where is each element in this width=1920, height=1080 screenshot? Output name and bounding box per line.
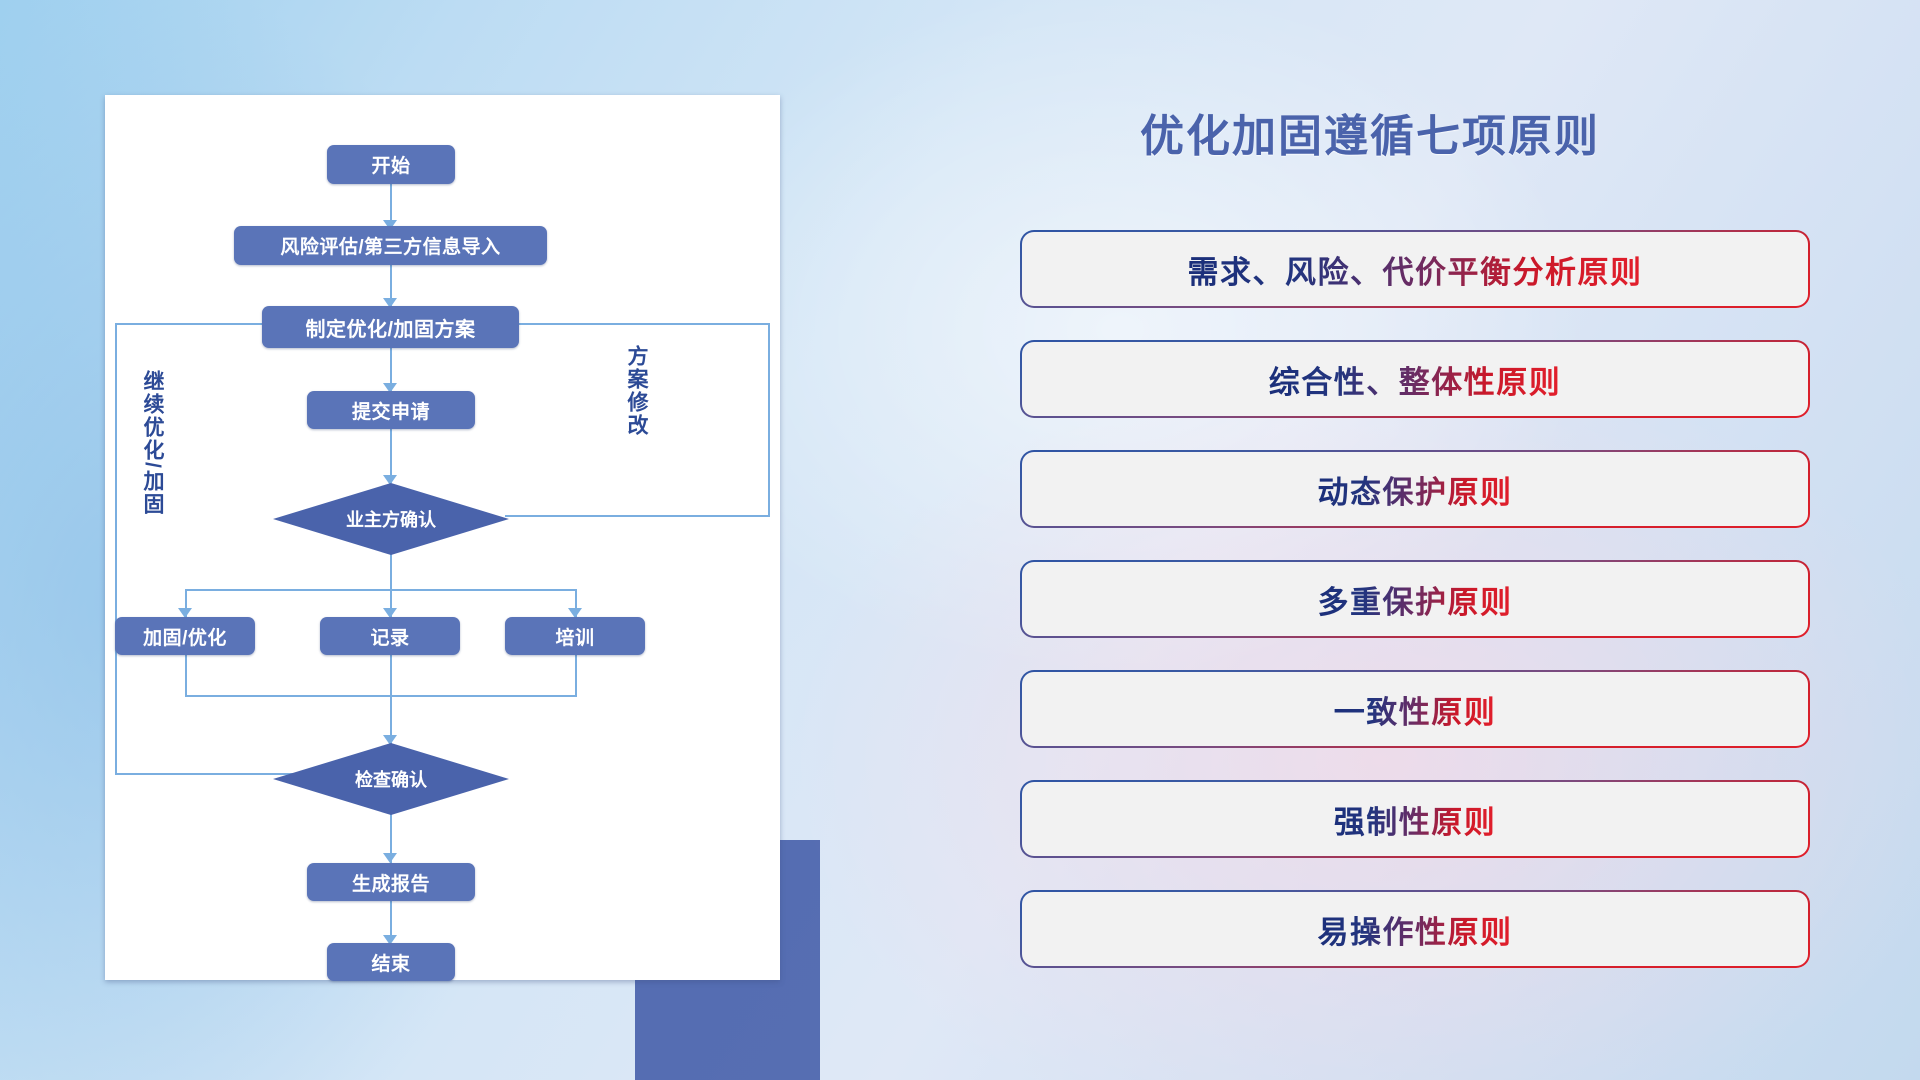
connector-branch-bus bbox=[185, 589, 575, 591]
principle-card[interactable]: 动态保护原则 bbox=[1020, 450, 1810, 528]
principles-panel: 优化加固遵循七项原则 需求、风险、代价平衡分析原则 综合性、整体性原则 动态保护… bbox=[1020, 90, 1840, 1010]
connector-rightloop-top-h bbox=[505, 323, 770, 325]
flowchart-panel: 继续优化/加固 方案修改 bbox=[105, 95, 785, 995]
connector-reinforce-merge bbox=[185, 655, 187, 697]
flow-node-risk-assessment[interactable]: 风险评估/第三方信息导入 bbox=[234, 226, 547, 265]
flowchart-card: 继续优化/加固 方案修改 bbox=[105, 95, 780, 980]
edge-label-continue-optimize: 继续优化/加固 bbox=[141, 370, 163, 530]
slide-canvas: 继续优化/加固 方案修改 bbox=[0, 0, 1920, 1080]
principles-list: 需求、风险、代价平衡分析原则 综合性、整体性原则 动态保护原则 多重保护原则 一… bbox=[1020, 230, 1810, 1000]
principle-card[interactable]: 强制性原则 bbox=[1020, 780, 1810, 858]
principle-card-label: 需求、风险、代价平衡分析原则 bbox=[1188, 247, 1643, 292]
flow-node-record[interactable]: 记录 bbox=[320, 617, 460, 655]
flow-node-check-confirm[interactable]: 检查确认 bbox=[273, 743, 509, 815]
flow-node-submit[interactable]: 提交申请 bbox=[307, 391, 475, 429]
principle-card-label: 动态保护原则 bbox=[1318, 467, 1513, 512]
connector-merge-bus bbox=[185, 695, 577, 697]
connector-train-merge bbox=[575, 655, 577, 697]
flow-node-check-confirm-label: 检查确认 bbox=[355, 766, 427, 792]
flow-node-start-label: 开始 bbox=[371, 151, 410, 178]
connector-rightloop-h bbox=[505, 515, 770, 517]
flow-node-report[interactable]: 生成报告 bbox=[307, 863, 475, 901]
flow-node-plan-label: 制定优化/加固方案 bbox=[305, 313, 475, 342]
flow-node-training-label: 培训 bbox=[555, 623, 594, 650]
principle-card-label: 强制性原则 bbox=[1334, 797, 1497, 842]
arrowhead-check-report bbox=[383, 853, 397, 863]
flow-node-reinforce-label: 加固/优化 bbox=[143, 623, 227, 650]
principle-card-label: 易操作性原则 bbox=[1318, 907, 1513, 952]
principle-card-label: 综合性、整体性原则 bbox=[1269, 357, 1562, 402]
connector-leftloop-v bbox=[115, 323, 117, 775]
flow-node-reinforce[interactable]: 加固/优化 bbox=[115, 617, 255, 655]
principle-card[interactable]: 综合性、整体性原则 bbox=[1020, 340, 1810, 418]
flow-node-owner-confirm[interactable]: 业主方确认 bbox=[273, 483, 509, 555]
flow-node-training[interactable]: 培训 bbox=[505, 617, 645, 655]
principle-card[interactable]: 易操作性原则 bbox=[1020, 890, 1810, 968]
principle-card-label: 一致性原则 bbox=[1334, 687, 1497, 732]
flow-node-owner-confirm-label: 业主方确认 bbox=[346, 506, 436, 532]
flow-node-start[interactable]: 开始 bbox=[327, 145, 455, 184]
principle-card[interactable]: 一致性原则 bbox=[1020, 670, 1810, 748]
flow-node-end[interactable]: 结束 bbox=[327, 943, 455, 981]
flow-node-submit-label: 提交申请 bbox=[352, 397, 430, 424]
edge-label-plan-revision: 方案修改 bbox=[625, 345, 647, 485]
flow-node-record-label: 记录 bbox=[370, 623, 409, 650]
principle-card[interactable]: 多重保护原则 bbox=[1020, 560, 1810, 638]
principle-card-label: 多重保护原则 bbox=[1318, 577, 1513, 622]
principle-card[interactable]: 需求、风险、代价平衡分析原则 bbox=[1020, 230, 1810, 308]
flow-node-report-label: 生成报告 bbox=[352, 869, 430, 896]
principles-title: 优化加固遵循七项原则 bbox=[1140, 100, 1600, 164]
connector-record-check bbox=[390, 655, 392, 745]
connector-owner-bus bbox=[390, 553, 392, 591]
connector-rightloop-v bbox=[768, 323, 770, 516]
flow-node-risk-assessment-label: 风险评估/第三方信息导入 bbox=[280, 232, 500, 259]
flow-node-end-label: 结束 bbox=[371, 949, 410, 976]
flow-node-plan[interactable]: 制定优化/加固方案 bbox=[262, 306, 519, 348]
